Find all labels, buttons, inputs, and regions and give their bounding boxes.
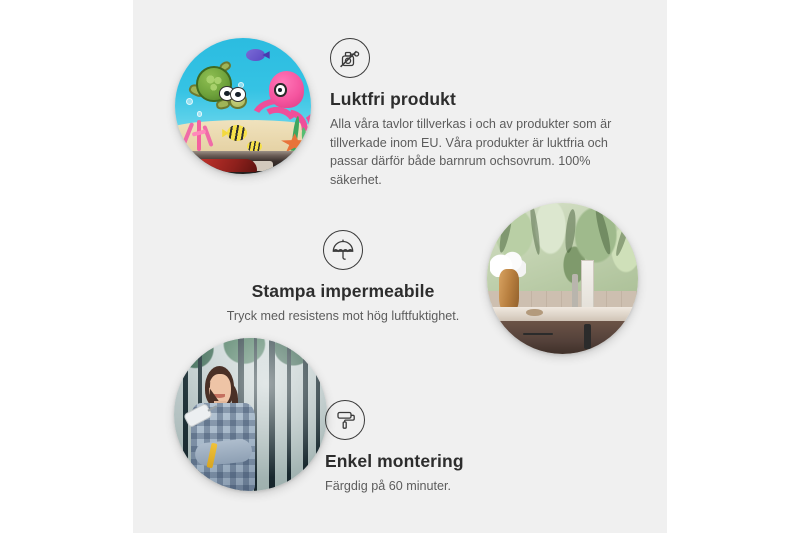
woman-illustration xyxy=(186,366,272,491)
feature-enkel-montering: Enkel montering Färgdig på 60 minuter. xyxy=(325,400,585,496)
soap-dispenser xyxy=(581,260,595,311)
feature-title: Stampa impermeabile xyxy=(213,281,473,301)
coral-illustration xyxy=(182,110,217,151)
room-floor-strip xyxy=(175,151,311,174)
woman-with-roller-forest-mural-photo xyxy=(174,338,327,491)
no-odour-perfume-icon xyxy=(330,38,370,78)
feature-stampa-impermeabile: Stampa impermeabile Tryck med resistens … xyxy=(213,230,473,326)
product-feature-infographic: Luktfri produkt Alla våra tavlor tillver… xyxy=(0,0,800,533)
underwater-scene xyxy=(175,38,311,174)
feature-title: Enkel montering xyxy=(325,451,585,471)
faucet xyxy=(572,274,578,310)
bathroom-tropical-wallpaper-photo xyxy=(487,203,638,354)
underwater-kids-mural-photo xyxy=(175,38,311,174)
feature-body: Alla våra tavlor tillverkas i och av pro… xyxy=(330,115,620,189)
bathroom-scene xyxy=(487,203,638,354)
fish-illustration xyxy=(246,49,265,61)
turtle-illustration xyxy=(193,64,247,113)
feature-title: Luktfri produkt xyxy=(330,89,620,109)
wood-vanity-cabinet xyxy=(487,321,638,354)
feature-luktfri-produkt: Luktfri produkt Alla våra tavlor tillver… xyxy=(330,38,620,189)
forest-mural-scene xyxy=(174,338,327,491)
paint-roller-icon xyxy=(325,400,365,440)
umbrella-icon xyxy=(323,230,363,270)
soap-dish xyxy=(526,309,543,317)
feature-body: Tryck med resistens mot hög luftfuktighe… xyxy=(213,307,473,326)
feature-body: Färgdig på 60 minuter. xyxy=(325,477,585,496)
stone-countertop xyxy=(487,307,638,321)
